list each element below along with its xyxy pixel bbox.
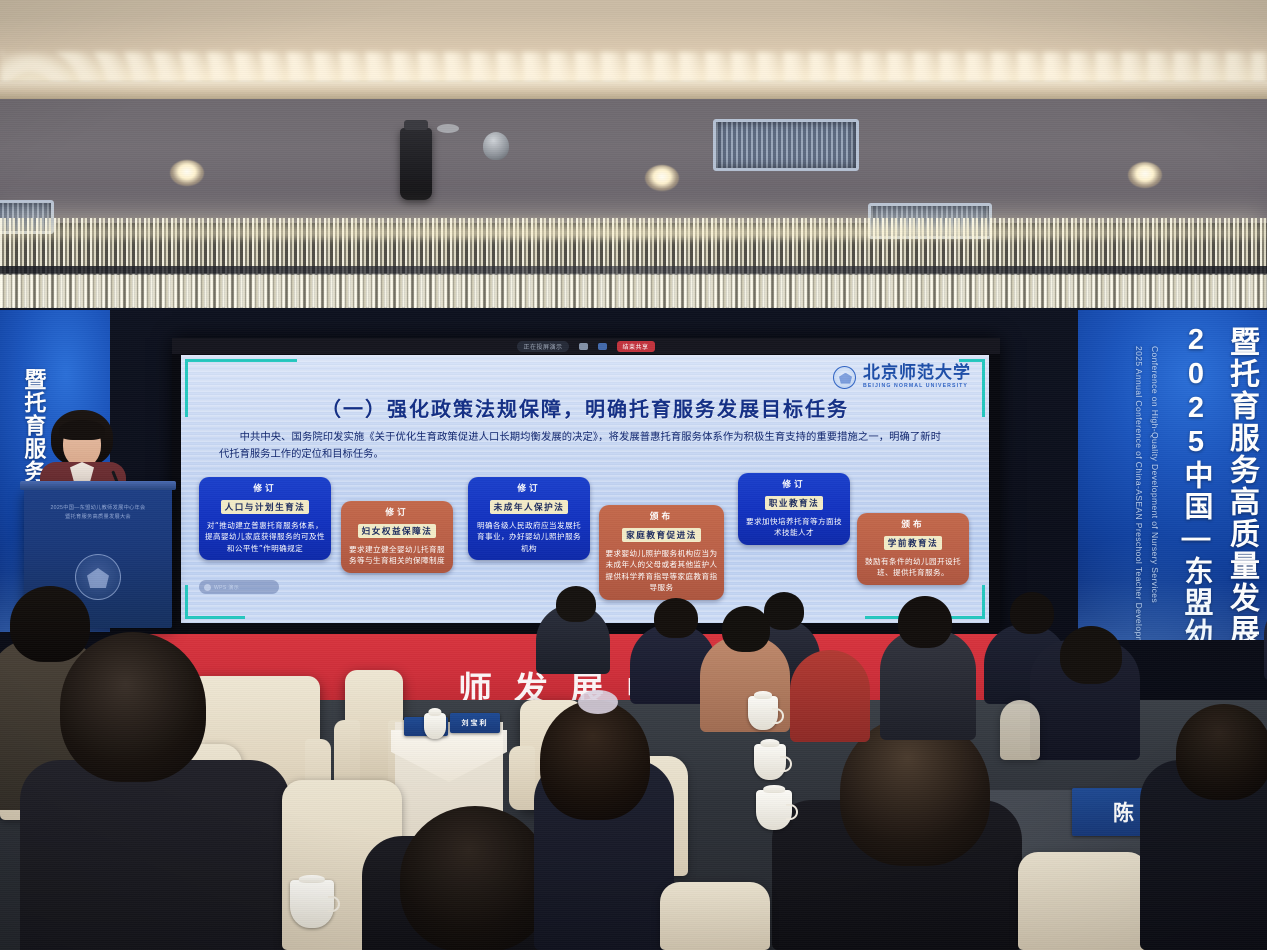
tea-cup — [756, 790, 792, 830]
law-box-kind: 颁布 — [605, 510, 718, 522]
law-box-kind: 修订 — [744, 478, 844, 490]
banner-right-english-1: 2025 Annual Conference of China-ASEAN Pr… — [1134, 346, 1143, 640]
air-vent — [713, 119, 859, 171]
banner-right-subtitle: 暨托育服务高质量发展大会 — [1225, 326, 1257, 640]
conference-photo: 暨托育服务高质量发展大会 暨托育服务高质量发展大会 2025中国—东盟幼儿教师发… — [0, 0, 1267, 950]
law-box-kind: 修订 — [205, 482, 325, 494]
tea-cup — [290, 880, 334, 928]
law-box: 颁布 家庭教育促进法 要求婴幼儿照护服务机构应当为未成年人的父母或者其他监护人提… — [599, 505, 724, 600]
ceiling-projector — [400, 128, 432, 200]
audience-head — [540, 700, 650, 820]
dome-camera-icon — [483, 132, 509, 160]
law-box-title: 妇女权益保障法 — [358, 524, 437, 538]
tea-cup — [754, 744, 786, 780]
tea-cup — [424, 713, 446, 739]
audience-chair — [1000, 700, 1040, 760]
podium-line-2: 暨托育服务高质量发展大会 — [24, 513, 172, 522]
ceiling-cove-rail — [0, 82, 1267, 100]
downlight-icon — [1128, 162, 1162, 188]
law-box-kind: 修订 — [474, 482, 584, 494]
tea-cup — [748, 696, 778, 730]
audience-chair — [660, 882, 770, 950]
law-box: 修订 妇女权益保障法 要求建立健全婴幼儿托育服务等与生育相关的保障制度 — [341, 501, 453, 573]
cast-status-label: 正在投屏演示 — [517, 341, 568, 352]
slide-content: 北京师范大学 BEIJING NORMAL UNIVERSITY （一）强化政策… — [181, 355, 989, 623]
share-screen-icon[interactable] — [598, 343, 607, 350]
audience-head — [556, 586, 596, 622]
audience-head — [722, 606, 770, 652]
law-box-kind: 修订 — [347, 506, 447, 518]
hair-clip-icon — [578, 690, 618, 714]
banner-right-title: 2025中国—东盟幼儿教师发展中心年会 — [1180, 324, 1211, 640]
law-box-desc: 要求婴幼儿照护服务机构应当为未成年人的父母或者其他监护人提供科学养育指导等家庭教… — [605, 548, 718, 594]
law-box-title: 人口与计划生育法 — [221, 500, 310, 514]
audience-head — [1060, 626, 1122, 684]
law-box: 修订 未成年人保护法 明确各级人民政府应当发展托育事业，办好婴幼儿照护服务机构 — [468, 477, 590, 560]
banner-right: 暨托育服务高质量发展大会 2025中国—东盟幼儿教师发展中心年会 Confere… — [1078, 310, 1267, 640]
audience-head — [898, 596, 952, 648]
audience-chair — [1018, 852, 1148, 950]
smoke-detector-icon — [437, 124, 459, 133]
stop-share-button[interactable]: 结束共享 — [617, 341, 655, 352]
downlight-icon — [170, 160, 204, 186]
podium-seal-icon — [75, 554, 121, 600]
audience-head — [654, 598, 698, 638]
mute-icon[interactable] — [579, 343, 588, 350]
slide-watermark: WPS 演示 — [199, 580, 279, 594]
law-box: 修订 人口与计划生育法 对“推动建立普惠托育服务体系，提高婴幼儿家庭获得服务的可… — [199, 477, 331, 560]
law-box-desc: 明确各级人民政府应当发展托育事业，办好婴幼儿照护服务机构 — [474, 520, 584, 554]
downlight-icon — [645, 165, 679, 191]
audience-head — [764, 592, 804, 630]
audience-head — [10, 586, 90, 662]
law-box-desc: 对“推动建立普惠托育服务体系，提高婴幼儿家庭获得服务的可及性和公平性”作明确规定 — [205, 520, 325, 554]
audience-torso — [790, 650, 870, 742]
audience-head — [400, 806, 550, 950]
watermark-label: WPS 演示 — [214, 584, 239, 591]
banner-right-english-2: Conference on High-Quality Development o… — [1150, 346, 1159, 603]
audience-head — [1010, 592, 1054, 634]
watermark-icon — [204, 584, 211, 591]
podium-text: 2025中国—东盟幼儿教师发展中心年会 暨托育服务高质量发展大会 — [24, 504, 172, 522]
audience-head — [1176, 704, 1267, 800]
law-box-title: 职业教育法 — [765, 496, 823, 510]
law-box-desc: 鼓励有条件的幼儿园开设托班、提供托育服务。 — [863, 556, 963, 579]
law-box-desc: 要求加快培养托育等方面技术技能人才 — [744, 516, 844, 539]
law-box-desc: 要求建立健全婴幼儿托育服务等与生育相关的保障制度 — [347, 544, 447, 567]
nameplate: 刘宝利 — [450, 713, 500, 733]
audience-head — [60, 632, 206, 782]
law-box: 颁布 学前教育法 鼓励有条件的幼儿园开设托班、提供托育服务。 — [857, 513, 969, 585]
screencast-toolbar[interactable]: 正在投屏演示 结束共享 — [172, 338, 1000, 354]
law-box-title: 未成年人保护法 — [490, 500, 569, 514]
law-box-title: 家庭教育促进法 — [622, 528, 701, 542]
nameplate-label: 刘宝利 — [462, 718, 489, 728]
podium-line-1: 2025中国—东盟幼儿教师发展中心年会 — [24, 504, 172, 513]
audience-torso — [20, 760, 290, 950]
law-box: 修订 职业教育法 要求加快培养托育等方面技术技能人才 — [738, 473, 850, 545]
chandelier-glow — [0, 210, 1267, 238]
slide-law-boxes: 修订 人口与计划生育法 对“推动建立普惠托育服务体系，提高婴幼儿家庭获得服务的可… — [181, 355, 989, 623]
law-box-title: 学前教育法 — [884, 536, 942, 550]
law-box-kind: 颁布 — [863, 518, 963, 530]
